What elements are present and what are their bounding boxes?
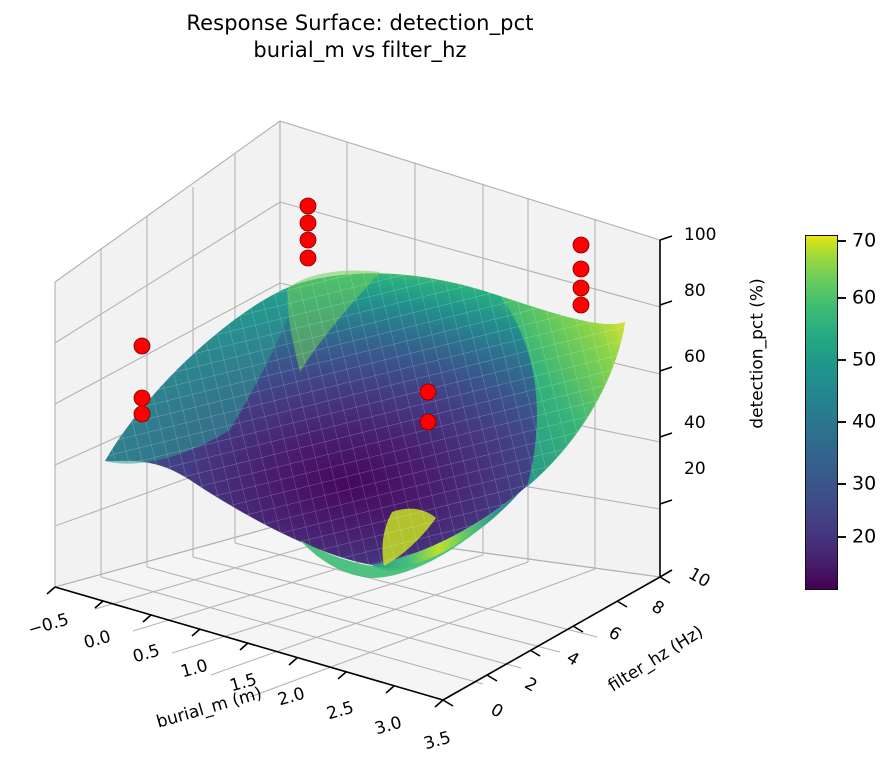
z-tick-label: 20	[684, 461, 706, 478]
colorbar[interactable]: 20 30 40 50 60 70	[805, 235, 895, 595]
z-tick-label: 80	[684, 283, 706, 300]
colorbar-tick-label: 50	[852, 351, 876, 370]
colorbar-tick-label: 70	[852, 232, 876, 251]
colorbar-gradient	[805, 235, 838, 590]
colorbar-tick	[838, 297, 846, 299]
z-tick-label: 100	[684, 227, 716, 244]
colorbar-tick-label: 30	[852, 475, 876, 494]
colorbar-tick	[838, 240, 846, 242]
axes-3d[interactable]: −0.5 0.0 0.5 1.0 1.5 2.0 2.5 3.0 3.5 bur…	[0, 0, 720, 775]
colorbar-tick	[838, 536, 846, 538]
z-axis-label: detection_pct (%)	[750, 278, 767, 428]
colorbar-tick	[838, 359, 846, 361]
colorbar-tick-label: 40	[852, 413, 876, 432]
colorbar-tick-label: 20	[852, 528, 876, 547]
colorbar-tick-label: 60	[852, 289, 876, 308]
figure-canvas: Response Surface: detection_pct burial_m…	[0, 0, 896, 775]
z-tick-label: 60	[684, 349, 706, 366]
z-tick-label: 40	[684, 415, 706, 432]
colorbar-tick	[838, 421, 846, 423]
colorbar-tick	[838, 483, 846, 485]
axes-3d-svg	[0, 0, 720, 775]
